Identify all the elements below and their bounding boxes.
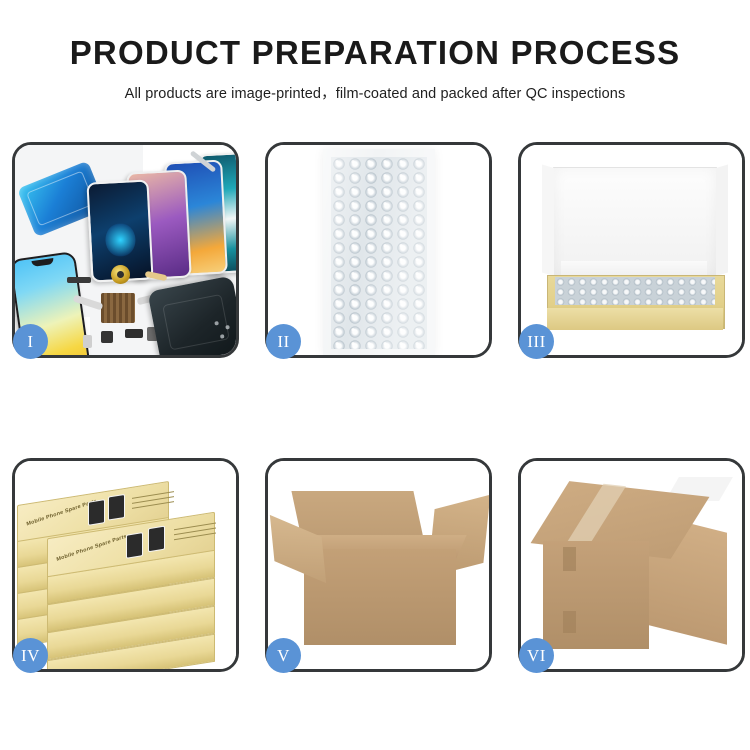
inner-box-illustration <box>521 145 742 355</box>
screws-icon <box>212 316 236 346</box>
chip-grid-part <box>101 293 135 323</box>
open-carton-illustration <box>268 461 489 669</box>
step-image-4: Mobile Phone Spare Parts <box>15 461 236 669</box>
step-panel-5: V <box>265 458 492 672</box>
step-panel-4: Mobile Phone Spare Parts <box>12 458 239 672</box>
flex-cable-part-3 <box>145 271 168 281</box>
step-badge-3: III <box>519 324 554 359</box>
connector-part-3 <box>101 331 113 343</box>
step-image-2 <box>268 145 489 355</box>
bubble-wrap-illustration <box>268 145 489 355</box>
step-badge-1: I <box>13 324 48 359</box>
phone-graphic-front-1 <box>126 532 143 559</box>
sealed-carton-front <box>543 541 649 649</box>
tray-bubble-contents <box>555 277 715 305</box>
connector-part-5 <box>83 335 92 348</box>
retail-box-label-rear: Mobile Phone Spare Parts <box>26 498 97 527</box>
step-panel-1: I <box>12 142 239 358</box>
step-badge-2: II <box>266 324 301 359</box>
step-image-1 <box>15 145 236 355</box>
process-step-grid: I II <box>12 142 738 672</box>
phone-graphic-rear-1 <box>88 499 105 526</box>
step-badge-5: V <box>266 638 301 673</box>
products-collage-illustration <box>15 145 236 355</box>
infographic-page: PRODUCT PREPARATION PROCESS All products… <box>0 0 750 750</box>
page-subtitle: All products are image-printed，film-coat… <box>0 82 750 103</box>
flex-cable-part-1 <box>73 295 104 311</box>
connector-part-1 <box>67 277 91 283</box>
phone-graphic-rear-2 <box>108 494 125 521</box>
phone-graphic-front-2 <box>148 526 165 553</box>
carton-body <box>304 549 456 645</box>
connector-part-2 <box>125 329 143 338</box>
packing-tape-front-lower <box>563 611 576 633</box>
step-badge-6: VI <box>519 638 554 673</box>
wrap-sheen <box>323 149 435 355</box>
page-title: PRODUCT PREPARATION PROCESS <box>0 36 750 69</box>
step-badge-4: IV <box>13 638 48 673</box>
box-stack: Mobile Phone Spare Parts <box>15 475 236 669</box>
retail-box-label-front: Mobile Phone Spare Parts <box>56 534 127 563</box>
step-panel-2: II <box>265 142 492 358</box>
coil-part-icon <box>111 265 130 284</box>
step-image-5 <box>268 461 489 669</box>
step-panel-3: III <box>518 142 745 358</box>
box-tray-front <box>547 308 723 330</box>
step-panel-6: VI <box>518 458 745 672</box>
sealed-carton-illustration <box>521 461 742 669</box>
stacked-boxes-illustration: Mobile Phone Spare Parts <box>15 461 236 669</box>
step-image-3 <box>521 145 742 355</box>
packing-tape-front-upper <box>563 547 576 571</box>
header: PRODUCT PREPARATION PROCESS All products… <box>0 0 750 103</box>
step-image-6 <box>521 461 742 669</box>
